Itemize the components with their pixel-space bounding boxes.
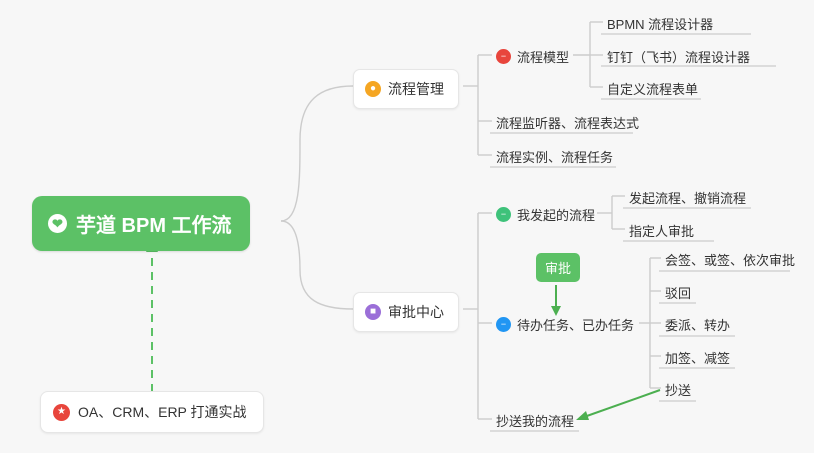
root-node[interactable]: ❤ 芋道 BPM 工作流 [32, 196, 250, 251]
branch-node-approval-center[interactable]: ■ 审批中心 [353, 292, 459, 332]
root-label: 芋道 BPM 工作流 [76, 209, 232, 238]
tag-label: 审批 [545, 261, 571, 276]
node-label: 流程模型 [517, 47, 569, 66]
node-label: 抄送 [665, 380, 691, 399]
node-label: 我发起的流程 [517, 205, 595, 224]
node-label: 驳回 [665, 283, 691, 302]
bottom-note[interactable]: ★ OA、CRM、ERP 打通实战 [40, 391, 264, 433]
node-custom-form[interactable]: 自定义流程表单 [603, 76, 702, 102]
minus-circle-icon: − [496, 317, 511, 332]
node-cc-to-me-processes[interactable]: 抄送我的流程 [492, 408, 578, 434]
node-process-model[interactable]: − 流程模型 [492, 44, 573, 70]
node-add-remove-sign[interactable]: 加签、减签 [661, 345, 734, 371]
node-label: 加签、减签 [665, 348, 730, 367]
node-my-started-processes[interactable]: − 我发起的流程 [492, 202, 599, 228]
bottom-note-label: OA、CRM、ERP 打通实战 [78, 402, 247, 422]
minus-circle-icon: − [496, 207, 511, 222]
node-assign-approver[interactable]: 指定人审批 [625, 218, 698, 244]
thumbs-up-icon: ❤ [48, 214, 67, 233]
node-start-cancel-process[interactable]: 发起流程、撤销流程 [625, 185, 750, 211]
node-label: 钉钉（飞书）流程设计器 [607, 47, 750, 66]
node-label: 流程实例、流程任务 [496, 147, 613, 166]
node-label: 会签、或签、依次审批 [665, 250, 795, 269]
node-cc[interactable]: 抄送 [661, 377, 695, 403]
node-bpmn-designer[interactable]: BPMN 流程设计器 [603, 11, 717, 37]
node-dingtalk-designer[interactable]: 钉钉（飞书）流程设计器 [603, 44, 754, 70]
node-reject[interactable]: 驳回 [661, 280, 695, 306]
clipboard-icon: ■ [365, 304, 381, 320]
node-label: 指定人审批 [629, 221, 694, 240]
mindmap-canvas: ❤ 芋道 BPM 工作流 ● 流程管理 − 流程模型 BPMN 流程设计器 钉钉… [0, 0, 814, 453]
node-label: 发起流程、撤销流程 [629, 188, 746, 207]
branch-label: 流程管理 [388, 79, 444, 99]
minus-circle-icon: − [496, 49, 511, 64]
node-label: BPMN 流程设计器 [607, 14, 713, 33]
node-process-listener-expression[interactable]: 流程监听器、流程表达式 [492, 110, 643, 136]
node-label: 自定义流程表单 [607, 79, 698, 98]
node-process-instance-task[interactable]: 流程实例、流程任务 [492, 144, 617, 170]
branch-node-process-management[interactable]: ● 流程管理 [353, 69, 459, 109]
node-label: 流程监听器、流程表达式 [496, 113, 639, 132]
node-delegate-transfer[interactable]: 委派、转办 [661, 312, 734, 338]
branch-label: 审批中心 [388, 302, 444, 322]
star-badge-icon: ★ [53, 404, 70, 421]
node-todo-done-tasks[interactable]: − 待办任务、已办任务 [492, 312, 638, 338]
node-label: 委派、转办 [665, 315, 730, 334]
node-label: 待办任务、已办任务 [517, 315, 634, 334]
node-label: 抄送我的流程 [496, 411, 574, 430]
location-pin-icon: ● [365, 81, 381, 97]
highlight-tag-approval[interactable]: 审批 [536, 253, 580, 282]
node-countersign[interactable]: 会签、或签、依次审批 [661, 247, 799, 273]
